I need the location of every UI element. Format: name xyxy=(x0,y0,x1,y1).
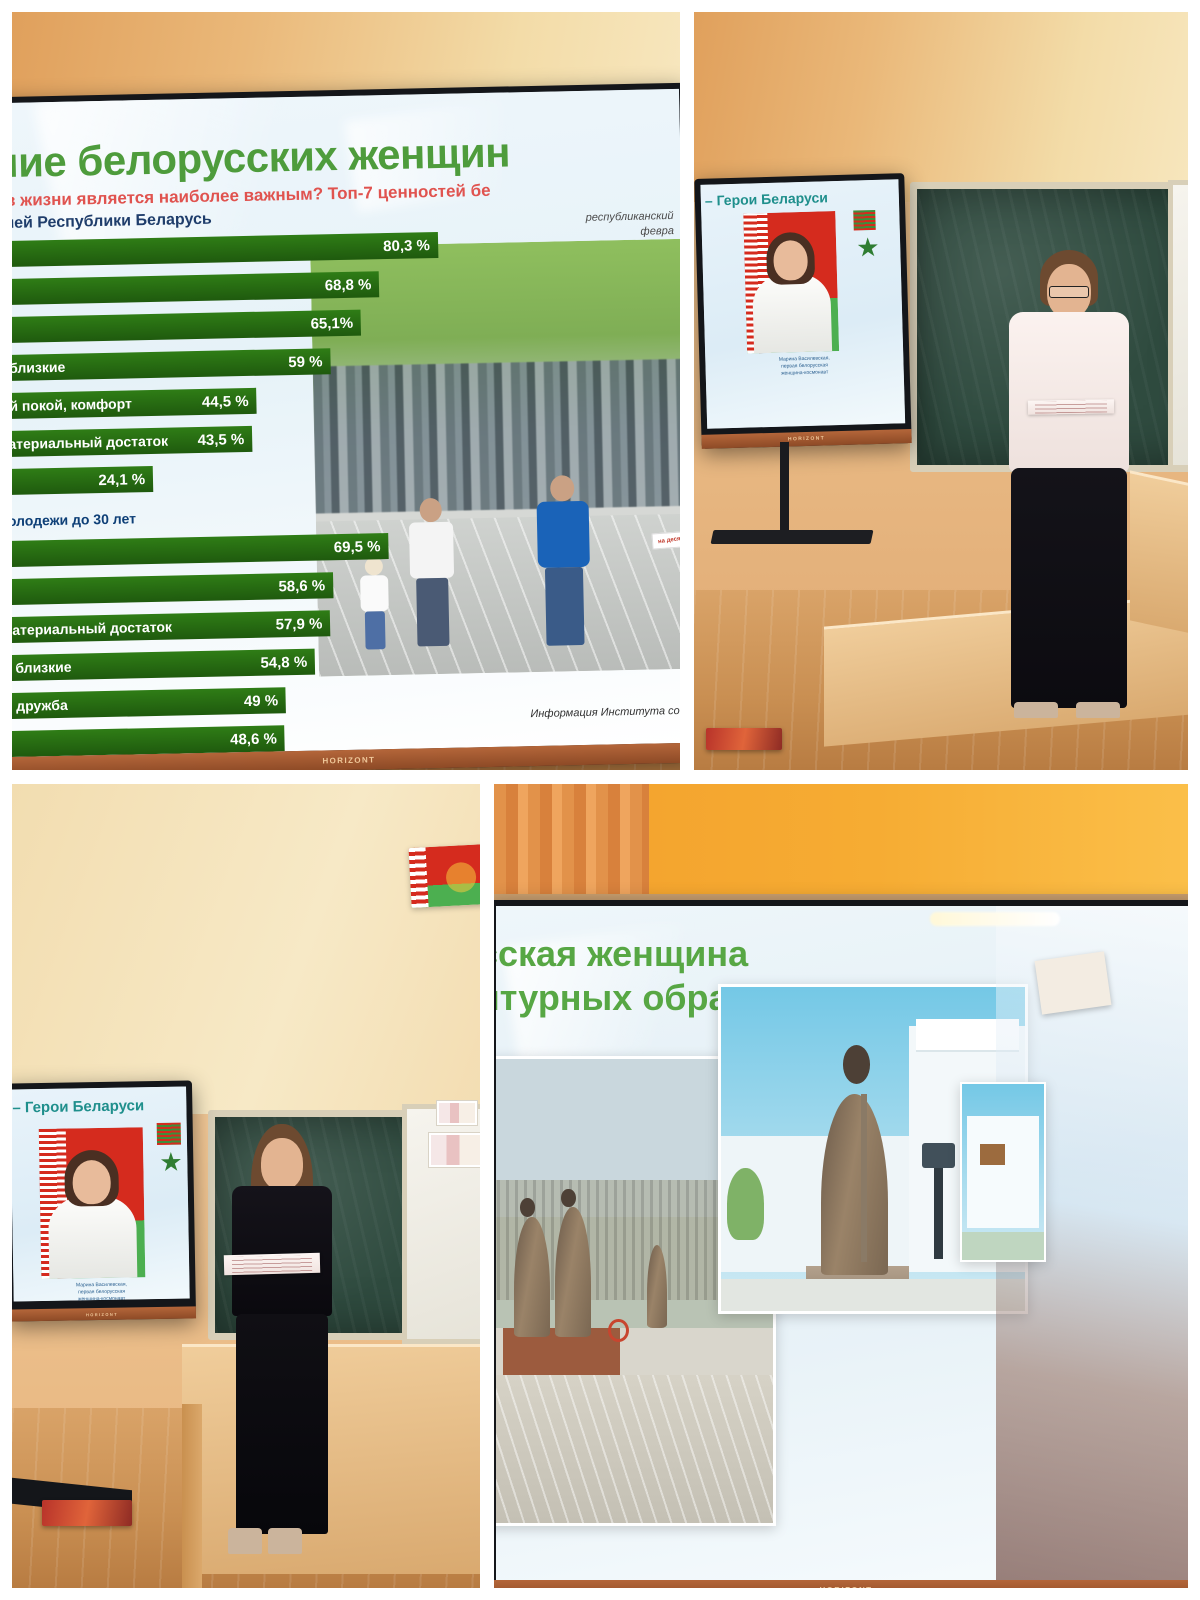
chart-bar-value: 43,5 % xyxy=(197,431,244,449)
chart-bar-value: 58,6 % xyxy=(278,577,325,595)
note-card: на десятки xyxy=(651,530,684,549)
glasses-icon xyxy=(1049,286,1089,298)
slide-hero-2: – Герои Беларуси Марина Василевская,перв… xyxy=(10,1086,190,1301)
chart-bar: и близкие59 % xyxy=(8,348,331,381)
whiteboard xyxy=(1168,180,1192,470)
tv-brand-logo: HORIZONT xyxy=(788,435,825,442)
chart-bar-label: материальный достаток xyxy=(8,433,168,453)
poster xyxy=(428,1132,484,1168)
trousers xyxy=(1011,468,1127,708)
cosmonaut-photo xyxy=(39,1127,146,1279)
tv-brand-logo: HORIZONT xyxy=(86,1311,118,1317)
chart-bar-value: 65,1% xyxy=(310,314,353,332)
chart-bar-value: 57,9 % xyxy=(275,615,322,633)
tv-chart: ение белорусских женщин вас в жизни явля… xyxy=(8,83,684,774)
paper-sheet xyxy=(224,1253,320,1276)
tv-stand xyxy=(780,442,789,534)
crowd-child xyxy=(357,557,393,650)
wall-upper xyxy=(694,12,1188,202)
chart-bar: 24,1 % xyxy=(8,466,153,495)
slide-hero: – Герои Беларуси Марина Василевская,перв… xyxy=(700,179,905,428)
person-presenter-glasses xyxy=(994,250,1144,750)
chart-bar-label: материальный достаток xyxy=(8,619,172,639)
chart-bar-value: 54,8 % xyxy=(260,653,307,671)
sculpture-slide-panel: сская женщина птурных образах xyxy=(490,780,1192,1592)
shoe xyxy=(228,1528,262,1554)
chart-bar: и близкие54,8 % xyxy=(8,649,315,682)
tv-screen-sculpture: сская женщина птурных образах xyxy=(496,906,1192,1580)
medal-ribbon-icon xyxy=(157,1123,181,1145)
tv-screen-hero-2: – Герои Беларуси Марина Василевская,перв… xyxy=(10,1086,190,1301)
chart-bar-value: 59 % xyxy=(288,353,323,371)
tv-brand-logo: HORIZONT xyxy=(820,1586,873,1593)
book xyxy=(42,1500,132,1526)
head xyxy=(261,1138,303,1190)
tv-bezel: HORIZONT xyxy=(490,1580,1192,1592)
chart-bar-value: 80,3 % xyxy=(383,237,430,255)
dress-top xyxy=(232,1186,332,1316)
chart-bar-value: 24,1 % xyxy=(98,471,145,489)
photo-collage: на десятки xyxy=(0,0,1200,1600)
chart-note: республиканскийфевра xyxy=(585,209,674,241)
tv-screen-hero: – Герои Беларуси Марина Василевская,перв… xyxy=(700,179,905,428)
cosmonaut-photo xyxy=(743,211,839,354)
hero-slide-title: – Герои Беларуси xyxy=(12,1097,144,1116)
chart-bar: 65,1% xyxy=(8,310,361,344)
belarus-flag xyxy=(408,844,484,908)
paper-sheet xyxy=(1028,399,1114,414)
tv-brand-logo: HORIZONT xyxy=(322,755,375,765)
chart-bar: 58,6 % xyxy=(8,572,333,605)
wall-upper xyxy=(12,784,480,1114)
shoe xyxy=(268,1528,302,1554)
chart-bar-label: и близкие xyxy=(8,359,65,376)
chart-bar: ый покой, комфорт44,5 % xyxy=(8,388,257,420)
crowd-figure xyxy=(404,498,461,649)
chart-bar-value: 68,8 % xyxy=(325,276,372,294)
tv-hero-2: – Герои Беларуси Марина Василевская,перв… xyxy=(8,1080,196,1321)
chart-bar-label: и близкие xyxy=(8,659,72,676)
tv-sculpture: сская женщина птурных образах xyxy=(490,900,1192,1592)
tv-base xyxy=(711,530,874,544)
tv-hero: – Герои Беларуси Марина Василевская,перв… xyxy=(694,173,911,449)
wood-trim xyxy=(494,784,649,894)
shoe xyxy=(1014,702,1058,718)
crowd-figure xyxy=(531,475,597,646)
chart-slide-panel: на десятки xyxy=(8,8,684,774)
shoe xyxy=(1076,702,1120,718)
title-line-1: сская женщина xyxy=(496,932,786,976)
person-presenter-dress xyxy=(202,1124,362,1584)
hero-slide-title: – Герои Беларуси xyxy=(705,189,828,208)
slide-background-photo xyxy=(311,238,684,676)
chart-source: Информация Института соц xyxy=(530,705,684,720)
chart-bar: материальный достаток57,9 % xyxy=(8,610,331,643)
slide-chart: ение белорусских женщин вас в жизни явля… xyxy=(8,89,684,757)
chart-bar-value: 44,5 % xyxy=(202,392,249,410)
cosmonaut-caption: Марина Василевская,первая белорусскаяжен… xyxy=(13,1280,189,1301)
tv-screen-chart: ение белорусских женщин вас в жизни явля… xyxy=(8,89,684,757)
monument-photo-small xyxy=(960,1082,1046,1262)
poster xyxy=(436,1100,478,1126)
presenter-glasses-panel: – Герои Беларуси Марина Василевская,перв… xyxy=(690,8,1192,774)
chart-bar-value: 48,6 % xyxy=(230,730,277,748)
book xyxy=(706,728,782,750)
desk-side xyxy=(182,1404,202,1592)
presenter-dress-panel: – Герои Беларуси Марина Василевская,перв… xyxy=(8,780,484,1592)
dress-skirt xyxy=(236,1314,328,1534)
shirt xyxy=(1009,312,1129,472)
slide-sculpture: сская женщина птурных образах xyxy=(496,906,1192,1580)
chart-bar-label: и дружба xyxy=(8,697,68,714)
chart-bar-value: 69,5 % xyxy=(334,538,381,556)
chart-bar: и дружба49 % xyxy=(8,687,286,719)
chart-group-label: олодежи до 30 лет xyxy=(8,510,136,529)
reflected-paper xyxy=(1035,951,1112,1014)
reflected-lamp-icon xyxy=(930,912,1060,926)
medal-ribbon-icon xyxy=(853,210,876,231)
chart-bar: материальный достаток43,5 % xyxy=(8,426,253,458)
chart-bar-value: 49 % xyxy=(244,692,279,710)
chart-bar-label: ый покой, комфорт xyxy=(8,395,132,414)
cosmonaut-caption: Марина Василевская,первая белорусскаяжен… xyxy=(705,353,903,379)
